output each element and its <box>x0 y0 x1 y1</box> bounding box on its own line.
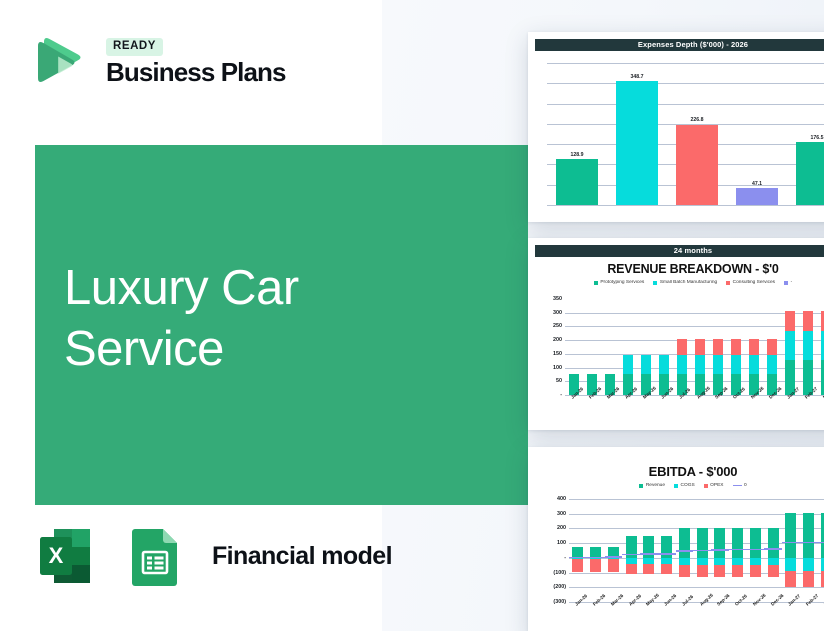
stack-segment <box>768 558 779 565</box>
gridline <box>547 83 824 84</box>
x-axis-tick-label: Sep-26 <box>716 593 731 607</box>
x-axis-tick-label: May-26 <box>645 593 660 607</box>
stack-segment <box>677 339 687 355</box>
y-axis-tick-label: 150 <box>553 351 562 357</box>
stack-segment <box>623 355 633 374</box>
stack-segment <box>767 339 777 355</box>
x-axis-tick-label: Apr-26 <box>628 593 642 606</box>
x-axis-tick-label: Mar-26 <box>610 593 624 607</box>
ebitda-card[interactable]: EBITDA - $'000 RevenueCOGSOPEX0 40030020… <box>528 447 824 631</box>
legend-swatch <box>653 281 657 285</box>
stack-segment <box>768 565 779 577</box>
stack-segment <box>659 355 669 374</box>
y-axis-tick-label: 50 <box>556 378 562 384</box>
y-axis-tick-label: 400 <box>557 496 566 502</box>
double-play-triangle-logo-icon <box>30 30 92 92</box>
ebitda-legend: RevenueCOGSOPEX0 <box>535 483 824 488</box>
stack-segment <box>749 355 759 374</box>
microsoft-excel-icon: X <box>32 520 104 592</box>
legend-item: Prototyping Services <box>594 280 645 285</box>
stack-segment <box>714 528 725 558</box>
zero-line-segment <box>676 550 694 551</box>
legend-item: 0 <box>733 483 747 488</box>
stack-segment <box>695 339 705 355</box>
stack-segment <box>731 339 741 355</box>
legend-swatch <box>594 281 598 285</box>
revenue-breakdown-card[interactable]: 24 months REVENUE BREAKDOWN - $'0 Protot… <box>528 238 824 430</box>
stack-segment <box>785 513 796 558</box>
y-axis-tick-label: 100 <box>553 365 562 371</box>
zero-line-segment <box>729 549 747 550</box>
zero-line-segment <box>569 557 587 558</box>
legend-item: - <box>784 280 792 285</box>
cover-page: READY Business Plans Luxury Car Service … <box>0 0 824 631</box>
expenses-depth-header: Expenses Depth ($'000) - 2026 <box>535 39 824 51</box>
x-axis-tick-label: Jan-27 <box>787 593 801 606</box>
stack-segment <box>785 311 795 331</box>
stack-segment <box>732 558 743 565</box>
page-title: Luxury Car Service <box>64 258 484 381</box>
bar <box>556 159 598 205</box>
ebitda-title: EBITDA - $'000 <box>535 464 824 479</box>
y-axis-tick-label: 200 <box>553 337 562 343</box>
legend-label: 0 <box>744 483 747 488</box>
x-axis-tick-label: Jun-26 <box>663 593 677 607</box>
zero-line-segment <box>622 554 640 555</box>
stack-segment <box>732 565 743 577</box>
legend-swatch <box>674 484 678 488</box>
stack-segment <box>750 565 761 577</box>
financial-model-label: Financial model <box>212 542 392 571</box>
gridline <box>569 587 824 588</box>
gridline <box>547 104 824 105</box>
stack-segment <box>661 536 672 557</box>
revenue-breakdown-header: 24 months <box>535 245 824 257</box>
x-axis-tick-label: Feb-27 <box>805 593 819 607</box>
stack-segment <box>714 558 725 565</box>
zero-line-segment <box>658 553 676 554</box>
y-axis-tick-label: 250 <box>553 323 562 329</box>
zero-line-segment <box>640 553 658 554</box>
brand-logo: READY Business Plans <box>30 30 286 92</box>
cover-title-panel: Luxury Car Service <box>35 145 528 505</box>
stack-segment <box>695 355 705 374</box>
stack-segment <box>750 558 761 565</box>
stack-segment <box>679 558 690 565</box>
financial-model-footer: X Financial model <box>32 520 392 592</box>
bar <box>796 142 824 205</box>
stack-segment <box>626 564 637 574</box>
stack-segment <box>732 528 743 558</box>
stack-segment <box>803 331 813 360</box>
stack-segment <box>785 331 795 360</box>
legend-swatch <box>726 281 730 285</box>
stack-segment <box>643 564 654 574</box>
x-axis-tick-label: Nov-26 <box>752 593 767 607</box>
stack-segment <box>713 339 723 355</box>
legend-item: COGS <box>674 483 695 488</box>
legend-label: - <box>791 280 793 285</box>
x-axis-tick-label: Jul-26 <box>681 594 694 607</box>
stack-segment <box>679 565 690 577</box>
gridline <box>547 205 824 206</box>
zero-line-segment <box>764 548 782 549</box>
legend-label: Prototyping Services <box>600 280 644 285</box>
bar-value-label: 226.8 <box>667 117 727 123</box>
legend-item: Small Batch Manufacturing <box>653 280 717 285</box>
y-axis-tick-label: 200 <box>557 525 566 531</box>
expenses-depth-plot: 128.9348.7226.847.1176.5 <box>547 63 824 205</box>
bar-value-label: 176.5 <box>787 135 824 141</box>
zero-line-segment <box>818 542 824 543</box>
zero-line-segment <box>693 550 711 551</box>
gridline <box>547 63 824 64</box>
x-axis-tick-label: Feb-26 <box>592 593 606 607</box>
legend-swatch <box>639 484 643 488</box>
zero-line-segment <box>605 556 623 557</box>
y-axis-tick-label: 100 <box>557 540 566 546</box>
x-axis-tick-label: Oct-26 <box>734 593 748 606</box>
stack-segment <box>785 571 796 586</box>
bar-value-label: 128.9 <box>547 152 607 158</box>
gridline <box>569 499 824 500</box>
ebitda-plot: 400300200100-(100)(200)(300)Jan-26Feb-26… <box>569 499 824 602</box>
stack-segment <box>750 528 761 558</box>
zero-line-segment <box>782 542 800 543</box>
bar <box>616 81 658 205</box>
ready-badge: READY <box>106 38 163 56</box>
stack-segment <box>697 565 708 577</box>
bar-value-label: 348.7 <box>607 74 667 80</box>
stack-segment <box>713 355 723 374</box>
zero-line-segment <box>800 542 818 543</box>
svg-text:X: X <box>49 543 64 568</box>
stack-segment <box>785 558 796 572</box>
revenue-breakdown-plot: 35030025020015010050-Jan-26Feb-26Mar-26A… <box>565 299 824 395</box>
stack-segment <box>608 559 619 572</box>
y-axis-tick-label: 300 <box>557 511 566 517</box>
legend-item: Consulting Services <box>726 280 775 285</box>
stack-segment <box>679 528 690 558</box>
revenue-breakdown-legend: Prototyping ServicesSmall Batch Manufact… <box>535 280 824 285</box>
x-axis-tick-label: Dec-26 <box>770 593 785 607</box>
stack-segment <box>803 558 814 572</box>
bar-value-label: 47.1 <box>727 181 787 187</box>
expenses-depth-card[interactable]: Expenses Depth ($'000) - 2026 128.9348.7… <box>528 32 824 222</box>
stack-segment <box>641 355 651 374</box>
x-axis-tick-label: Aug-26 <box>699 593 714 607</box>
stack-segment <box>697 558 708 565</box>
stack-segment <box>661 564 672 574</box>
stack-segment <box>572 559 583 572</box>
legend-swatch <box>733 485 742 487</box>
legend-label: OPEX <box>710 483 723 488</box>
stack-segment <box>803 513 814 558</box>
y-axis-tick-label: - <box>560 392 562 398</box>
stack-segment <box>731 355 741 374</box>
zero-line-segment <box>587 557 605 558</box>
brand-name: Business Plans <box>106 59 286 86</box>
x-axis-tick-label: Jan-26 <box>574 593 588 606</box>
stack-segment <box>803 571 814 586</box>
legend-label: Revenue <box>646 483 665 488</box>
y-axis-tick-label: (300) <box>553 599 566 605</box>
legend-label: COGS <box>681 483 695 488</box>
stack-segment <box>767 355 777 374</box>
zero-line-segment <box>711 549 729 550</box>
stack-segment <box>590 559 601 572</box>
legend-item: Revenue <box>639 483 665 488</box>
bar <box>676 125 718 206</box>
y-axis-tick-label: - <box>564 555 566 561</box>
legend-swatch <box>704 484 708 488</box>
stack-segment <box>803 311 813 331</box>
bar <box>736 188 778 205</box>
legend-label: Small Batch Manufacturing <box>660 280 717 285</box>
revenue-breakdown-title: REVENUE BREAKDOWN - $'0 <box>535 262 824 276</box>
legend-label: Consulting Services <box>733 280 775 285</box>
zero-line-segment <box>747 549 765 550</box>
google-sheets-icon <box>119 520 191 592</box>
y-axis-tick-label: 350 <box>553 296 562 302</box>
y-axis-tick-label: 300 <box>553 310 562 316</box>
stack-segment <box>714 565 725 577</box>
legend-swatch <box>784 281 788 285</box>
stack-segment <box>749 339 759 355</box>
stack-segment <box>697 528 708 558</box>
y-axis-tick-label: (200) <box>553 584 566 590</box>
y-axis-tick-label: (100) <box>553 570 566 576</box>
legend-item: OPEX <box>704 483 724 488</box>
stack-segment <box>768 528 779 558</box>
stack-segment <box>677 355 687 374</box>
